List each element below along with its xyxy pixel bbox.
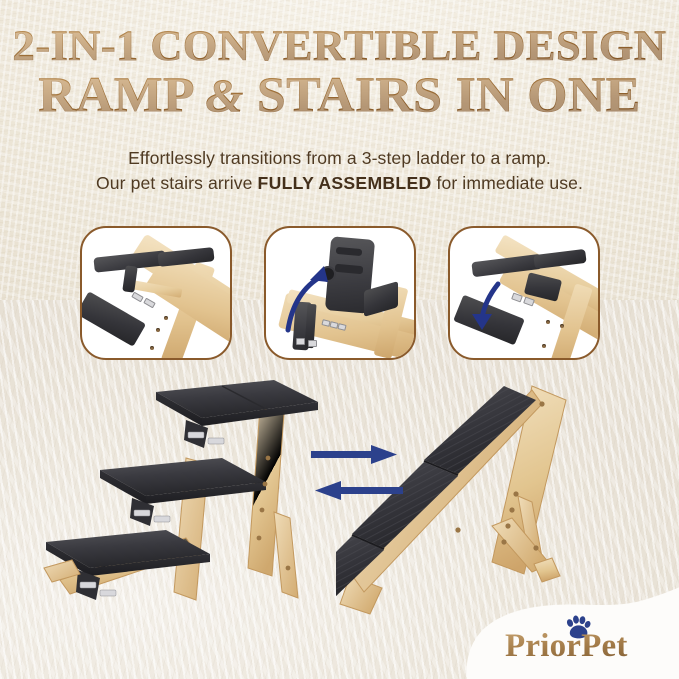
headline-line-2-pre: RAMP xyxy=(38,66,205,122)
subtitle-block: Effortlessly transitions from a 3-step l… xyxy=(0,146,679,196)
panel-1-step-detail[interactable] xyxy=(80,226,232,360)
subtitle-line-2-pre: Our pet stairs arrive xyxy=(96,173,258,193)
subtitle-line-1: Effortlessly transitions from a 3-step l… xyxy=(0,146,679,171)
panel-1-scene xyxy=(82,228,230,358)
arrow-left-icon xyxy=(315,481,403,500)
brand-badge: PriorPet xyxy=(461,585,679,679)
step-panel-row xyxy=(80,226,600,360)
headline-line-1: 2-IN-1 CONVERTIBLE DESIGN xyxy=(0,26,679,68)
headline-block: 2-IN-1 CONVERTIBLE DESIGN RAMP & STAIRS … xyxy=(0,26,679,119)
panel-3-scene xyxy=(450,228,598,358)
panel-3-fold-down[interactable] xyxy=(448,226,600,360)
headline-line-2: RAMP & STAIRS IN ONE xyxy=(0,70,679,119)
ampersand-ornament: & xyxy=(205,70,243,122)
fold-up-arrow-icon xyxy=(266,228,416,360)
conversion-arrows xyxy=(305,437,415,509)
arrow-right-icon xyxy=(311,445,397,464)
fully-assembled-emphasis: FULLY ASSEMBLED xyxy=(258,173,432,193)
stairs-illustration xyxy=(36,362,336,630)
subtitle-line-2-post: for immediate use. xyxy=(432,173,584,193)
subtitle-line-2: Our pet stairs arrive FULLY ASSEMBLED fo… xyxy=(0,171,679,196)
fold-down-arrow-icon xyxy=(450,228,600,360)
brand-name: PriorPet xyxy=(505,628,628,665)
product-infographic: 2-IN-1 CONVERTIBLE DESIGN RAMP & STAIRS … xyxy=(0,0,679,679)
headline-line-2-post: STAIRS IN ONE xyxy=(244,66,641,122)
product-view-stairs xyxy=(36,362,336,630)
panel-2-scene xyxy=(266,228,414,358)
panel-2-fold-up[interactable] xyxy=(264,226,416,360)
